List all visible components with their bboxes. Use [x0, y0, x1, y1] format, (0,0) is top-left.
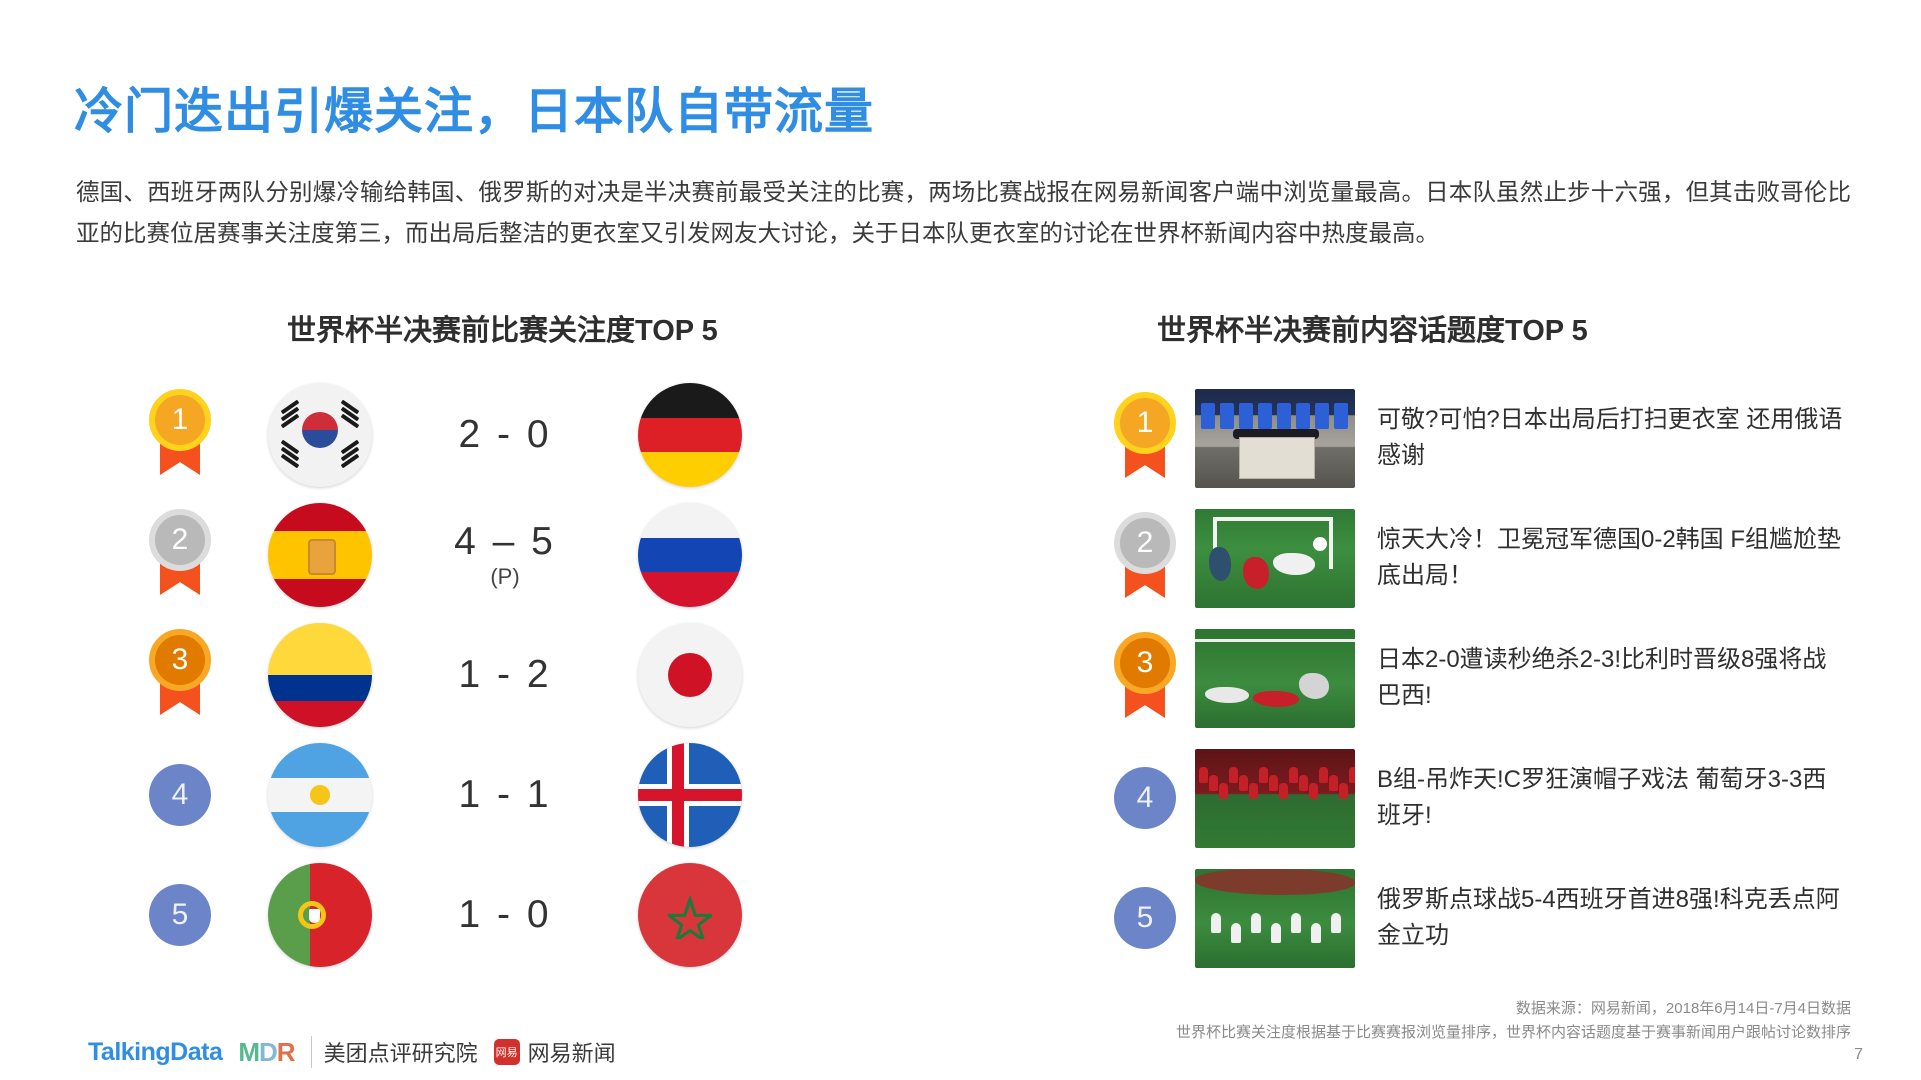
score-cell: 1 - 1 — [400, 773, 610, 817]
flag-icon-es — [268, 503, 372, 607]
rank-label: 3 — [1137, 646, 1154, 680]
headline-text[interactable]: 日本2-0遭读秒绝杀2-3!比利时晋级8强将战巴西! — [1377, 642, 1847, 714]
medal-icon-gold: 1 — [149, 389, 211, 481]
footer-logos: TalkingData MDR 美团点评研究院 网易 网易新闻 — [88, 1036, 616, 1068]
rank-label: 4 — [1137, 781, 1154, 815]
rank-cell: 5 — [120, 884, 240, 946]
page-number: 7 — [1854, 1046, 1863, 1064]
team-b-cell — [610, 743, 770, 847]
meituan-research-logo: 美团点评研究院 — [311, 1036, 478, 1068]
rank-cell: 2 — [120, 509, 240, 601]
medal-icon-gold: 1 — [1114, 392, 1176, 484]
left-panel-heading: 世界杯半决赛前比赛关注度TOP 5 — [287, 307, 718, 349]
flag-icon-ma — [638, 863, 742, 967]
score-cell: 4 – 5(P) — [400, 520, 610, 590]
page-title: 冷门迭出引爆关注，日本队自带流量 — [74, 72, 874, 143]
table-row: 31 - 2 — [120, 615, 960, 735]
headline-text[interactable]: 俄罗斯点球战5-4西班牙首进8强!科克丢点阿金立功 — [1377, 882, 1847, 954]
thumbnail-red-crowd-photo — [1195, 749, 1355, 848]
medal-disc: 2 — [1114, 512, 1176, 574]
team-a-cell — [240, 383, 400, 487]
rank-badge-5: 5 — [149, 884, 211, 946]
medal-disc: 3 — [1114, 632, 1176, 694]
intro-paragraph: 德国、西班牙两队分别爆冷输给韩国、俄罗斯的对决是半决赛前最受关注的比赛，两场比赛… — [76, 172, 1851, 254]
medal-icon-bronze: 3 — [149, 629, 211, 721]
team-a-cell — [240, 743, 400, 847]
rank-cell: 1 — [120, 389, 240, 481]
score-note: (P) — [490, 564, 519, 590]
table-row: 24 – 5(P) — [120, 495, 960, 615]
rank-label: 5 — [1137, 901, 1154, 935]
rank-label: 1 — [1137, 406, 1154, 440]
source-line-1: 数据来源：网易新闻，2018年6月14日-7月4日数据 — [1516, 1000, 1851, 1017]
match-attention-list: 12 - 024 – 5(P)31 - 241 - 151 - 0 — [120, 375, 960, 975]
headline-text[interactable]: 惊天大冷！卫冕冠军德国0-2韩国 F组尴尬垫底出局！ — [1377, 522, 1847, 594]
content-topic-list: 1可敬?可怕?日本出局后打扫更衣室 还用俄语感谢2惊天大冷！卫冕冠军德国0-2韩… — [1095, 378, 1885, 978]
rank-cell: 4 — [1095, 767, 1195, 829]
rank-label: 3 — [172, 643, 189, 677]
team-b-cell — [610, 383, 770, 487]
source-note: 数据来源：网易新闻，2018年6月14日-7月4日数据 世界杯比赛关注度根据基于… — [1176, 997, 1851, 1045]
flag-icon-de — [638, 383, 742, 487]
score-label: 1 - 0 — [458, 893, 551, 937]
team-a-cell — [240, 623, 400, 727]
medal-icon-bronze: 3 — [1114, 632, 1176, 724]
list-item[interactable]: 1可敬?可怕?日本出局后打扫更衣室 还用俄语感谢 — [1095, 378, 1885, 498]
pentagram-icon — [668, 895, 712, 939]
rank-label: 2 — [1137, 526, 1154, 560]
table-row: 51 - 0 — [120, 855, 960, 975]
flag-icon-ar — [268, 743, 372, 847]
score-label: 4 – 5 — [454, 520, 556, 564]
rank-cell: 5 — [1095, 887, 1195, 949]
medal-icon-silver: 2 — [1114, 512, 1176, 604]
flag-icon-jp — [638, 623, 742, 727]
score-label: 2 - 0 — [458, 413, 551, 457]
table-row: 41 - 1 — [120, 735, 960, 855]
headline-text[interactable]: 可敬?可怕?日本出局后打扫更衣室 还用俄语感谢 — [1377, 402, 1847, 474]
mdr-letter-m: M — [238, 1037, 259, 1067]
team-a-cell — [240, 503, 400, 607]
netease-news-logo: 网易 网易新闻 — [494, 1036, 616, 1068]
slide-root: 冷门迭出引爆关注，日本队自带流量 德国、西班牙两队分别爆冷输给韩国、俄罗斯的对决… — [0, 0, 1921, 1080]
score-label: 1 - 2 — [458, 653, 551, 697]
score-label: 1 - 1 — [458, 773, 551, 817]
list-item[interactable]: 5俄罗斯点球战5-4西班牙首进8强!科克丢点阿金立功 — [1095, 858, 1885, 978]
table-row: 12 - 0 — [120, 375, 960, 495]
rank-cell: 3 — [120, 629, 240, 721]
medal-disc: 1 — [1114, 392, 1176, 454]
thumbnail-goal-mouth-scramble-photo — [1195, 509, 1355, 608]
rank-cell: 3 — [1095, 632, 1195, 724]
team-b-cell — [610, 623, 770, 727]
flag-icon-ru — [638, 503, 742, 607]
rank-badge-4: 4 — [1114, 767, 1176, 829]
team-a-cell — [240, 863, 400, 967]
list-item[interactable]: 4B组-吊炸天!C罗狂演帽子戏法 葡萄牙3-3西班牙! — [1095, 738, 1885, 858]
source-line-2: 世界杯比赛关注度根据基于比赛赛报浏览量排序，世界杯内容话题度基于赛事新闻用户跟帖… — [1176, 1021, 1851, 1045]
rank-cell: 4 — [120, 764, 240, 826]
mdr-logo: MDR — [238, 1037, 294, 1068]
rank-cell: 2 — [1095, 512, 1195, 604]
thumbnail-players-on-pitch-photo — [1195, 629, 1355, 728]
score-cell: 1 - 0 — [400, 893, 610, 937]
medal-disc: 1 — [149, 389, 211, 451]
rank-label: 1 — [172, 403, 189, 437]
score-cell: 1 - 2 — [400, 653, 610, 697]
list-item[interactable]: 3日本2-0遭读秒绝杀2-3!比利时晋级8强将战巴西! — [1095, 618, 1885, 738]
netease-badge-icon: 网易 — [494, 1039, 520, 1065]
mdr-letter-r: R — [277, 1037, 295, 1067]
medal-icon-silver: 2 — [149, 509, 211, 601]
rank-label: 5 — [172, 898, 189, 932]
rank-badge-4: 4 — [149, 764, 211, 826]
flag-icon-kr — [268, 383, 372, 487]
medal-disc: 3 — [149, 629, 211, 691]
list-item[interactable]: 2惊天大冷！卫冕冠军德国0-2韩国 F组尴尬垫底出局！ — [1095, 498, 1885, 618]
team-b-cell — [610, 863, 770, 967]
headline-text[interactable]: B组-吊炸天!C罗狂演帽子戏法 葡萄牙3-3西班牙! — [1377, 762, 1847, 834]
rank-badge-5: 5 — [1114, 887, 1176, 949]
flag-icon-pt — [268, 863, 372, 967]
thumbnail-celebration-photo — [1195, 869, 1355, 968]
flag-icon-co — [268, 623, 372, 727]
right-panel-heading: 世界杯半决赛前内容话题度TOP 5 — [1157, 307, 1588, 349]
mdr-letter-d: D — [259, 1037, 277, 1067]
team-b-cell — [610, 503, 770, 607]
netease-label: 网易新闻 — [528, 1036, 616, 1068]
rank-cell: 1 — [1095, 392, 1195, 484]
rank-label: 2 — [172, 523, 189, 557]
score-cell: 2 - 0 — [400, 413, 610, 457]
rank-label: 4 — [172, 778, 189, 812]
thumbnail-locker-room-photo — [1195, 389, 1355, 488]
talkingdata-logo: TalkingData — [88, 1038, 222, 1067]
flag-icon-is — [638, 743, 742, 847]
medal-disc: 2 — [149, 509, 211, 571]
